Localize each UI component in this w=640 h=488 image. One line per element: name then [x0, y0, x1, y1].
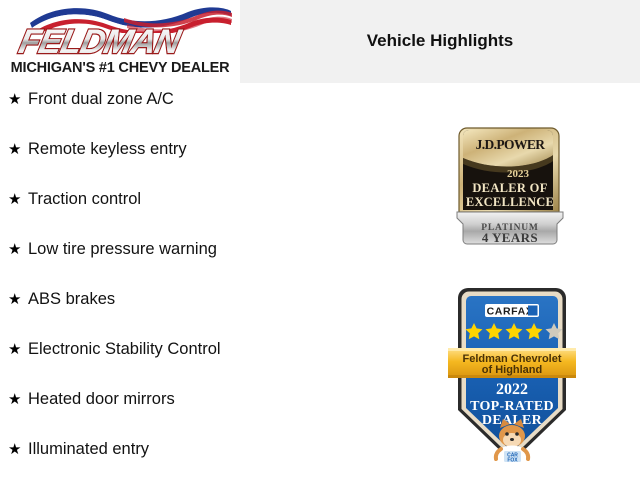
list-item: ★ Traction control: [8, 188, 308, 238]
feature-label: Low tire pressure warning: [28, 238, 217, 260]
award-badges: J.D.POWER 2023 DEALER OF EXCELLENCE PLAT…: [440, 110, 590, 470]
feature-label: Remote keyless entry: [28, 138, 187, 160]
list-item: ★ Low tire pressure warning: [8, 238, 308, 288]
feature-label: Heated door mirrors: [28, 388, 175, 410]
jdp-brand-text: J.D.POWER: [476, 137, 546, 152]
feature-label: Traction control: [28, 188, 141, 210]
star-bullet-icon: ★: [8, 88, 28, 111]
carfax-ribbon-line2: of Highland: [482, 364, 543, 376]
feature-label: Illuminated entry: [28, 438, 149, 460]
carfax-brand-text: CARFAX: [487, 306, 534, 318]
list-item: ★ Heated door mirrors: [8, 388, 308, 438]
star-bullet-icon: ★: [8, 338, 28, 361]
carfax-mascot-shirt-line2: FOX: [507, 458, 518, 464]
list-item: ★ ABS brakes: [8, 288, 308, 338]
jdp-award-line2: EXCELLENCE: [466, 195, 554, 209]
dealer-tagline: MICHIGAN'S #1 CHEVY DEALER: [0, 60, 240, 76]
carfax-badge: CARFAX Feldman Chevrolet of Highland 202…: [448, 286, 576, 466]
star-bullet-icon: ★: [8, 288, 28, 311]
jd-power-badge: J.D.POWER 2023 DEALER OF EXCELLENCE PLAT…: [455, 124, 565, 246]
star-bullet-icon: ★: [8, 438, 28, 461]
page-title: Vehicle Highlights: [240, 31, 640, 51]
dealer-logo[interactable]: FELDMAN FELDMAN MICHIGAN'S #1 CHEVY DEAL…: [0, 0, 240, 83]
jdp-year-text: 2023: [507, 168, 530, 180]
star-bullet-icon: ★: [8, 388, 28, 411]
feature-label: ABS brakes: [28, 288, 115, 310]
carfax-year-text: 2022: [496, 381, 528, 398]
list-item: ★ Illuminated entry: [8, 438, 308, 488]
list-item: ★ Electronic Stability Control: [8, 338, 308, 388]
brand-wordmark: FELDMAN FELDMAN: [10, 22, 234, 62]
list-item: ★ Remote keyless entry: [8, 138, 308, 188]
list-item: ★ Front dual zone A/C: [8, 88, 308, 138]
star-bullet-icon: ★: [8, 138, 28, 161]
jdp-award-line1: DEALER OF: [472, 181, 547, 195]
feature-label: Electronic Stability Control: [28, 338, 221, 360]
carfax-award-line1: TOP-RATED: [470, 399, 554, 414]
star-bullet-icon: ★: [8, 188, 28, 211]
svg-text:FELDMAN: FELDMAN: [16, 23, 185, 61]
star-bullet-icon: ★: [8, 238, 28, 261]
jdp-duration-text: 4 YEARS: [482, 230, 538, 245]
vehicle-highlights-list: ★ Front dual zone A/C ★ Remote keyless e…: [8, 88, 308, 488]
feature-label: Front dual zone A/C: [28, 88, 174, 110]
